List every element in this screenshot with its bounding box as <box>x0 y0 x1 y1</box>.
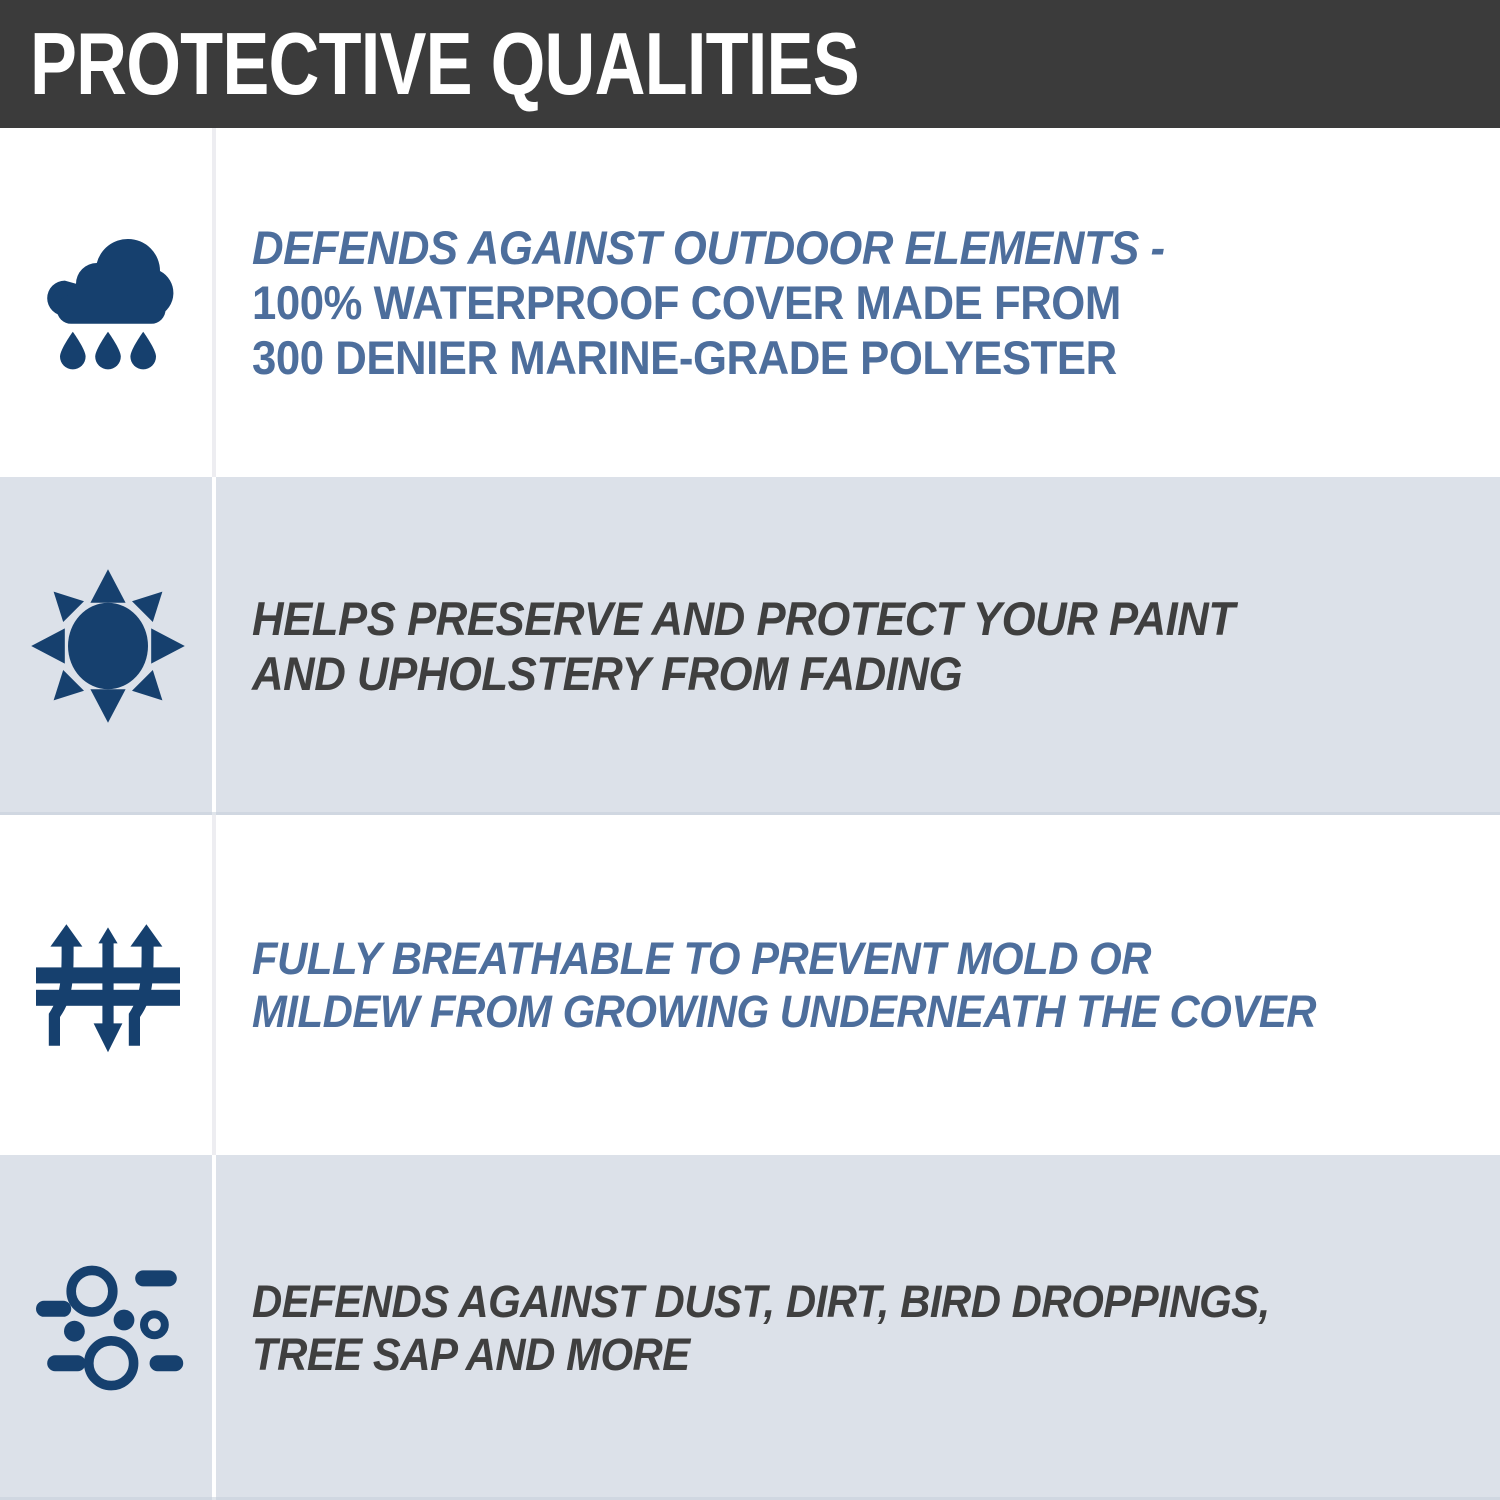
text-cell: HELPS PRESERVE AND PROTECT YOUR PAINT AN… <box>216 591 1500 701</box>
feature-text-line: HELPS PRESERVE AND PROTECT YOUR PAINT <box>252 591 1385 646</box>
text-cell: FULLY BREATHABLE TO PREVENT MOLD OR MILD… <box>216 932 1500 1038</box>
page-title: PROTECTIVE QUALITIES <box>30 18 859 110</box>
feature-text-line: 300 DENIER MARINE-GRADE POLYESTER <box>252 330 1385 385</box>
feature-text-line: TREE SAP AND MORE <box>252 1328 1385 1381</box>
rain-cloud-icon <box>28 223 188 383</box>
feature-text-line: 100% WATERPROOF COVER MADE FROM <box>252 275 1385 330</box>
feature-text: HELPS PRESERVE AND PROTECT YOUR PAINT AN… <box>252 591 1385 701</box>
feature-row: DEFENDS AGAINST DUST, DIRT, BIRD DROPPIN… <box>0 1155 1500 1500</box>
text-cell: DEFENDS AGAINST OUTDOOR ELEMENTS - 100% … <box>216 220 1500 385</box>
icon-cell <box>0 128 216 477</box>
feature-text-line: MILDEW FROM GROWING UNDERNEATH THE COVER <box>252 985 1385 1038</box>
feature-text-line: DEFENDS AGAINST OUTDOOR ELEMENTS - <box>252 220 1385 275</box>
icon-cell <box>0 815 216 1155</box>
feature-text: DEFENDS AGAINST OUTDOOR ELEMENTS - 100% … <box>252 220 1385 385</box>
feature-text-line: DEFENDS AGAINST DUST, DIRT, BIRD DROPPIN… <box>252 1275 1385 1328</box>
feature-row: FULLY BREATHABLE TO PREVENT MOLD OR MILD… <box>0 815 1500 1155</box>
header-bar: PROTECTIVE QUALITIES <box>0 0 1500 128</box>
feature-text-line: AND UPHOLSTERY FROM FADING <box>252 646 1385 701</box>
feature-row: HELPS PRESERVE AND PROTECT YOUR PAINT AN… <box>0 477 1500 815</box>
dust-particles-icon <box>28 1248 188 1408</box>
text-cell: DEFENDS AGAINST DUST, DIRT, BIRD DROPPIN… <box>216 1275 1500 1381</box>
feature-text: FULLY BREATHABLE TO PREVENT MOLD OR MILD… <box>252 932 1385 1038</box>
protective-qualities-infographic: PROTECTIVE QUALITIES DEFENDS AGAINST OUT… <box>0 0 1500 1500</box>
feature-text: DEFENDS AGAINST DUST, DIRT, BIRD DROPPIN… <box>252 1275 1385 1381</box>
sun-icon <box>28 566 188 726</box>
breathable-airflow-icon <box>28 905 188 1065</box>
feature-row: DEFENDS AGAINST OUTDOOR ELEMENTS - 100% … <box>0 128 1500 477</box>
icon-cell <box>0 477 216 815</box>
feature-text-line: FULLY BREATHABLE TO PREVENT MOLD OR <box>252 932 1385 985</box>
icon-cell <box>0 1155 216 1500</box>
